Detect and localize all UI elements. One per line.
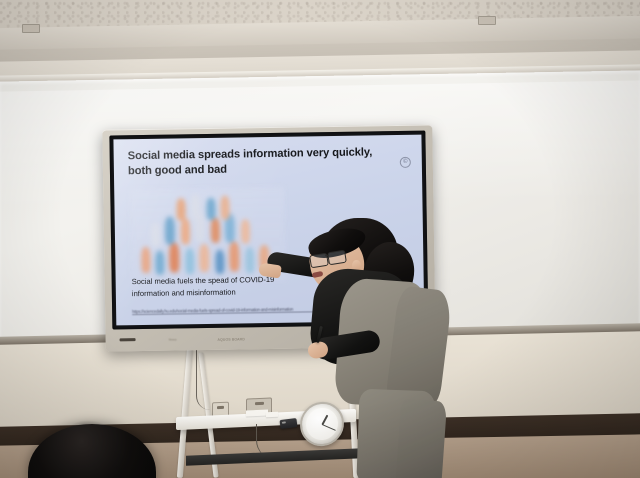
slide-watermark-icon: © [400, 157, 411, 168]
ceiling-vent-left [22, 24, 40, 33]
display-brand-small: Sharp [169, 337, 177, 341]
ir-sensor-strip [120, 338, 136, 341]
slide-caption-line-2: information and misinformation [132, 287, 236, 298]
slide-title-line-2: both good and bad [128, 164, 227, 178]
paper-sheet-1 [246, 410, 268, 417]
glasses-right-lens [327, 250, 347, 266]
ceiling-vent-right [478, 16, 496, 25]
slide-caption-line-1: Social media fuels the spead of COVID-19 [132, 275, 275, 286]
presenter [268, 214, 468, 478]
slide-title-line-1: Social media spreads information very qu… [128, 146, 373, 162]
stand-cable [196, 350, 213, 410]
presenter-pants-back-leg [395, 399, 447, 478]
slide-title: Social media spreads information very qu… [128, 145, 388, 180]
display-model-label: AQUOS BOARD [218, 337, 246, 341]
classroom-photo: Social media spreads information very qu… [0, 0, 640, 478]
